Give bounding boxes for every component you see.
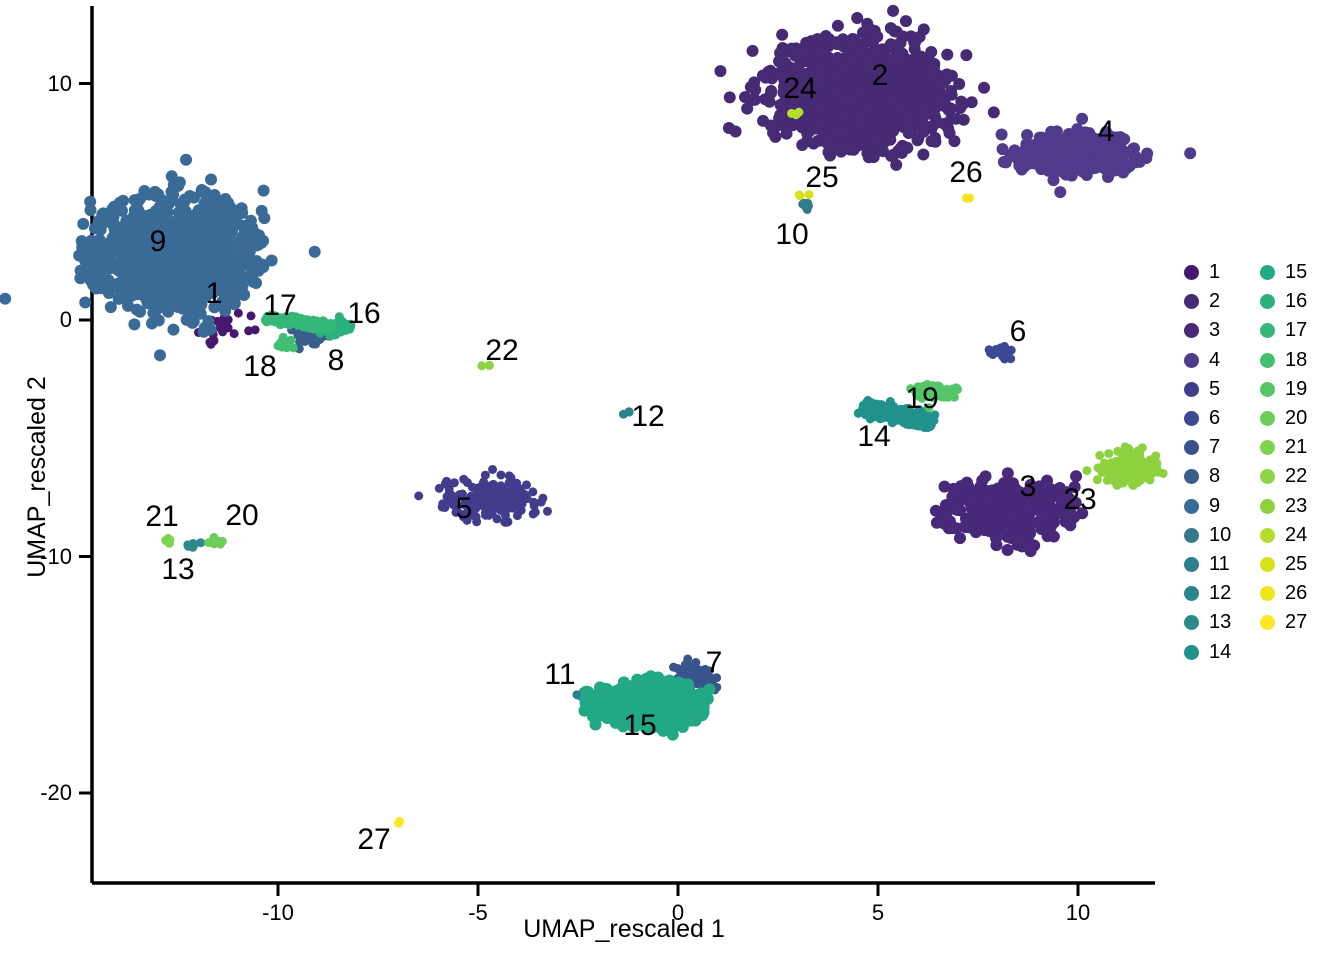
x-tick-label: 0: [672, 900, 684, 926]
legend-swatch-icon: [1260, 469, 1275, 484]
legend-label: 6: [1209, 407, 1220, 430]
legend-label: 14: [1209, 641, 1231, 664]
legend-swatch-icon: [1260, 411, 1275, 426]
legend-item-10[interactable]: 10: [1178, 521, 1252, 550]
legend-item-18[interactable]: 18: [1254, 346, 1328, 375]
legend-item-19[interactable]: 19: [1254, 375, 1328, 404]
legend-swatch-icon: [1184, 557, 1199, 572]
cluster-legend[interactable]: 1234567891011121314 15161718192021222324…: [1178, 258, 1338, 668]
scatter-points: [0, 5, 1196, 828]
x-tick-label: -10: [262, 900, 294, 926]
legend-item-20[interactable]: 20: [1254, 404, 1328, 433]
x-tick-label: 10: [1066, 900, 1090, 926]
legend-item-25[interactable]: 25: [1254, 550, 1328, 579]
legend-label: 3: [1209, 319, 1220, 342]
legend-label: 18: [1285, 349, 1307, 372]
legend-label: 19: [1285, 378, 1307, 401]
legend-label: 26: [1285, 582, 1307, 605]
y-axis-title: UMAP_rescaled 2: [23, 227, 52, 727]
legend-item-16[interactable]: 16: [1254, 287, 1328, 316]
legend-swatch-icon: [1260, 586, 1275, 601]
legend-swatch-icon: [1184, 469, 1199, 484]
legend-label: 20: [1285, 407, 1307, 430]
y-tick-label: -10: [0, 544, 72, 570]
legend-label: 9: [1209, 495, 1220, 518]
legend-item-14[interactable]: 14: [1178, 637, 1252, 666]
legend-item-5[interactable]: 5: [1178, 375, 1252, 404]
legend-swatch-icon: [1260, 294, 1275, 309]
legend-swatch-icon: [1184, 323, 1199, 338]
legend-label: 5: [1209, 378, 1220, 401]
legend-label: 21: [1285, 436, 1307, 459]
legend-swatch-icon: [1260, 353, 1275, 368]
legend-item-4[interactable]: 4: [1178, 346, 1252, 375]
legend-label: 2: [1209, 290, 1220, 313]
legend-swatch-icon: [1184, 440, 1199, 455]
legend-swatch-icon: [1260, 323, 1275, 338]
legend-label: 13: [1209, 611, 1231, 634]
legend-label: 16: [1285, 290, 1307, 313]
legend-swatch-icon: [1260, 528, 1275, 543]
legend-item-9[interactable]: 9: [1178, 492, 1252, 521]
umap-scatter-figure: UMAP_rescaled 1 UMAP_rescaled 2 -10-5051…: [0, 0, 1344, 960]
legend-label: 4: [1209, 349, 1220, 372]
legend-swatch-icon: [1260, 557, 1275, 572]
plot-frame: [92, 6, 1155, 883]
legend-swatch-icon: [1184, 528, 1199, 543]
legend-column-a[interactable]: 1234567891011121314: [1178, 258, 1252, 667]
legend-label: 11: [1209, 553, 1230, 576]
legend-item-21[interactable]: 21: [1254, 433, 1328, 462]
legend-label: 24: [1285, 524, 1307, 547]
legend-item-13[interactable]: 13: [1178, 608, 1252, 637]
legend-swatch-icon: [1184, 294, 1199, 309]
legend-item-17[interactable]: 17: [1254, 316, 1328, 345]
legend-swatch-icon: [1260, 499, 1275, 514]
legend-swatch-icon: [1260, 382, 1275, 397]
legend-label: 10: [1209, 524, 1231, 547]
legend-swatch-icon: [1184, 499, 1199, 514]
legend-label: 7: [1209, 436, 1220, 459]
x-tick-label: -5: [468, 900, 488, 926]
legend-item-6[interactable]: 6: [1178, 404, 1252, 433]
legend-label: 15: [1285, 261, 1307, 284]
legend-swatch-icon: [1184, 411, 1199, 426]
legend-label: 27: [1285, 611, 1307, 634]
legend-swatch-icon: [1184, 353, 1199, 368]
legend-item-26[interactable]: 26: [1254, 579, 1328, 608]
legend-item-7[interactable]: 7: [1178, 433, 1252, 462]
legend-item-23[interactable]: 23: [1254, 492, 1328, 521]
legend-item-12[interactable]: 12: [1178, 579, 1252, 608]
legend-label: 8: [1209, 465, 1220, 488]
legend-label: 17: [1285, 319, 1307, 342]
y-tick-label: -20: [0, 780, 72, 806]
plot-canvas: [0, 0, 1344, 960]
legend-label: 12: [1209, 582, 1231, 605]
legend-swatch-icon: [1184, 645, 1199, 660]
y-tick-label: 0: [0, 307, 72, 333]
legend-item-3[interactable]: 3: [1178, 316, 1252, 345]
legend-swatch-icon: [1260, 440, 1275, 455]
legend-item-22[interactable]: 22: [1254, 462, 1328, 491]
legend-item-8[interactable]: 8: [1178, 462, 1252, 491]
legend-item-24[interactable]: 24: [1254, 521, 1328, 550]
legend-label: 22: [1285, 465, 1307, 488]
y-tick-label: 10: [0, 71, 72, 97]
legend-label: 1: [1209, 261, 1220, 284]
x-tick-label: 5: [872, 900, 884, 926]
legend-item-2[interactable]: 2: [1178, 287, 1252, 316]
legend-item-15[interactable]: 15: [1254, 258, 1328, 287]
legend-swatch-icon: [1260, 615, 1275, 630]
legend-swatch-icon: [1184, 265, 1199, 280]
legend-swatch-icon: [1184, 615, 1199, 630]
legend-swatch-icon: [1184, 382, 1199, 397]
legend-item-27[interactable]: 27: [1254, 608, 1328, 637]
legend-label: 25: [1285, 553, 1307, 576]
legend-swatch-icon: [1260, 265, 1275, 280]
x-axis-title: UMAP_rescaled 1: [0, 915, 1248, 944]
legend-label: 23: [1285, 495, 1307, 518]
legend-item-1[interactable]: 1: [1178, 258, 1252, 287]
legend-item-11[interactable]: 11: [1178, 550, 1252, 579]
legend-column-b[interactable]: 15161718192021222324252627: [1254, 258, 1328, 637]
legend-swatch-icon: [1184, 586, 1199, 601]
